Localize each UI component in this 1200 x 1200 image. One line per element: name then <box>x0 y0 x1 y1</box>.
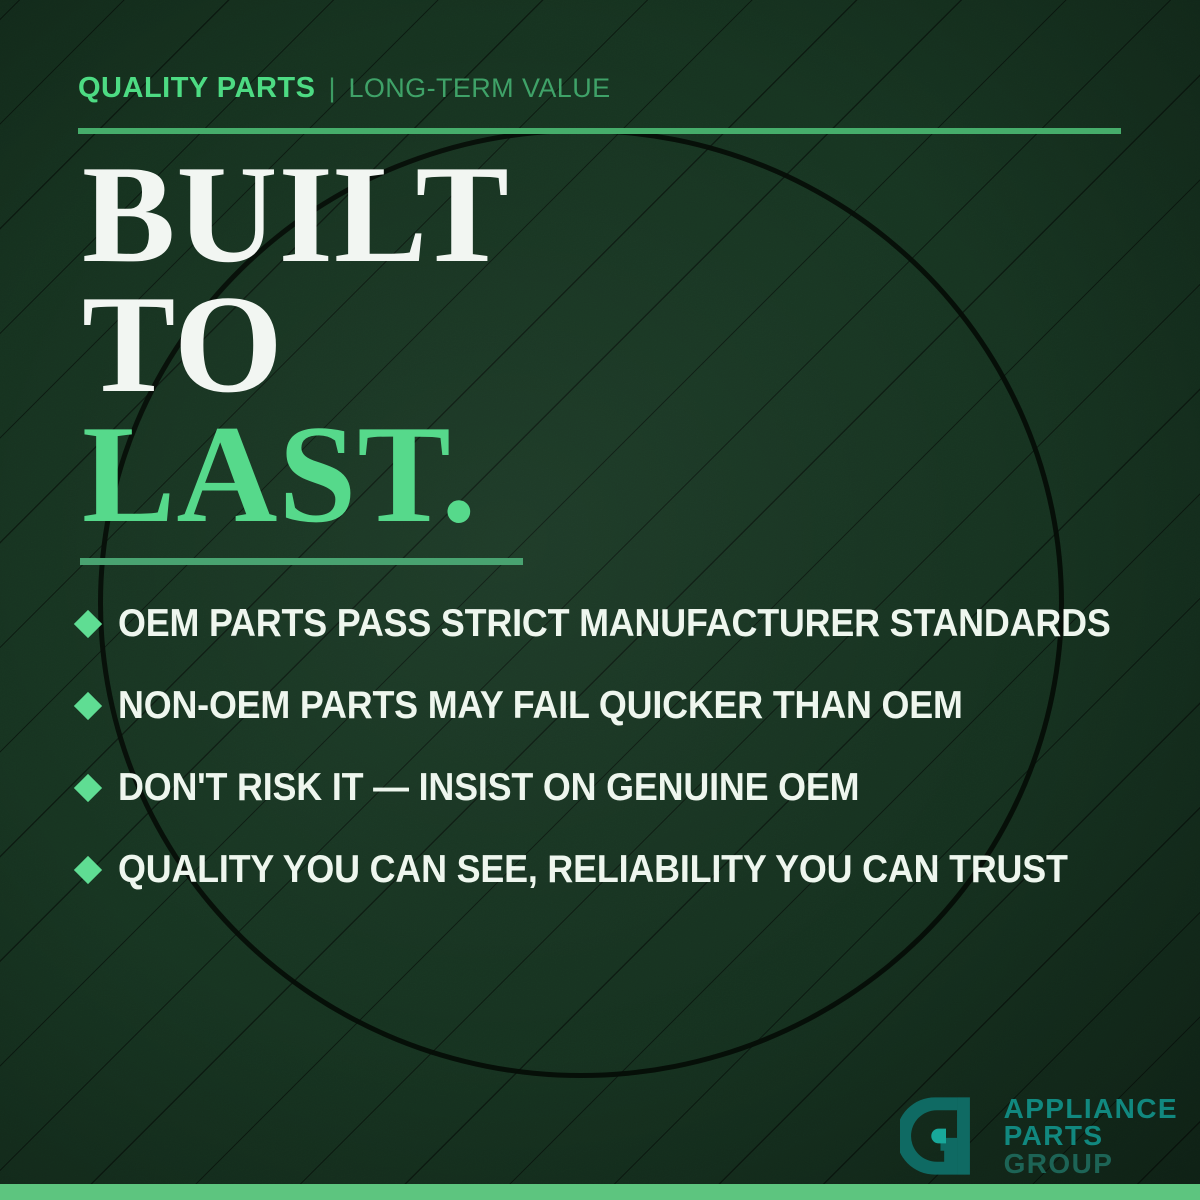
benefits-list: OEM PARTS PASS STRICT MANUFACTURER STAND… <box>78 583 1148 911</box>
list-item-label: DON'T RISK IT — INSIST ON GENUINE OEM <box>118 766 859 810</box>
list-item-label: NON-OEM PARTS MAY FAIL QUICKER THAN OEM <box>118 684 963 728</box>
list-item: OEM PARTS PASS STRICT MANUFACTURER STAND… <box>78 583 1148 665</box>
headline-divider-rule <box>80 558 523 565</box>
diamond-bullet-icon <box>74 610 102 638</box>
brand-logo: APPLIANCE PARTS GROUP <box>900 1090 1178 1182</box>
header-divider-rule <box>78 128 1121 134</box>
page-title: BUILT TO LAST. <box>82 150 510 541</box>
brand-wordmark: APPLIANCE PARTS GROUP <box>1004 1095 1178 1177</box>
g-monogram-icon <box>900 1090 992 1182</box>
list-item: NON-OEM PARTS MAY FAIL QUICKER THAN OEM <box>78 665 1148 747</box>
eyebrow-sub-label: LONG-TERM VALUE <box>348 73 610 104</box>
eyebrow-kicker: QUALITY PARTS | LONG-TERM VALUE <box>78 72 611 105</box>
bottom-accent-bar <box>0 1184 1200 1200</box>
brand-word-group: GROUP <box>1004 1150 1178 1177</box>
poster-canvas: QUALITY PARTS | LONG-TERM VALUE BUILT TO… <box>0 0 1200 1200</box>
list-item-label: OEM PARTS PASS STRICT MANUFACTURER STAND… <box>118 602 1111 646</box>
eyebrow-main-label: QUALITY PARTS <box>78 72 315 105</box>
diamond-bullet-icon <box>74 692 102 720</box>
list-item: DON'T RISK IT — INSIST ON GENUINE OEM <box>78 747 1148 829</box>
list-item-label: QUALITY YOU CAN SEE, RELIABILITY YOU CAN… <box>118 848 1068 892</box>
headline-line-2: TO <box>82 280 510 410</box>
headline-line-1: BUILT <box>82 150 510 280</box>
diamond-bullet-icon <box>74 856 102 884</box>
brand-word-appliance: APPLIANCE <box>1004 1095 1178 1122</box>
eyebrow-separator: | <box>328 73 335 104</box>
brand-word-parts: PARTS <box>1004 1122 1178 1149</box>
list-item: QUALITY YOU CAN SEE, RELIABILITY YOU CAN… <box>78 829 1148 911</box>
diamond-bullet-icon <box>74 774 102 802</box>
headline-line-3: LAST. <box>82 410 510 540</box>
